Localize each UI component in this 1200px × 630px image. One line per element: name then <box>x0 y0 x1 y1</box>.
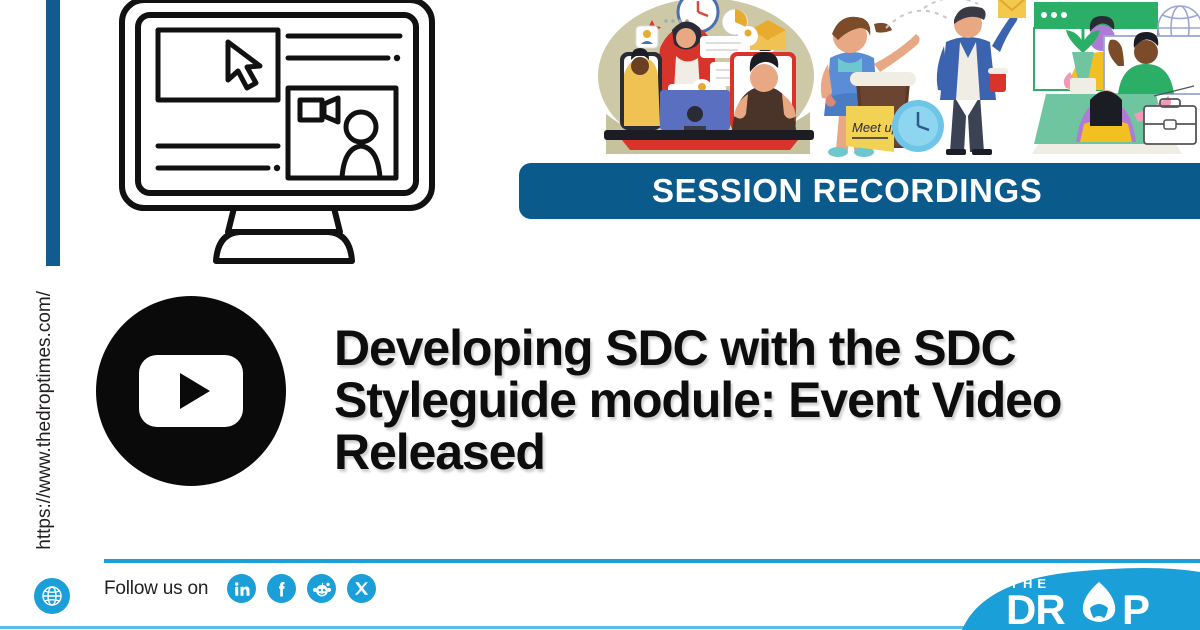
vertical-url-container: https://www.thedroptimes.com/ <box>34 290 62 550</box>
banner-label: SESSION RECORDINGS <box>652 172 1042 210</box>
svg-text:Meet up: Meet up <box>852 120 899 135</box>
left-accent-bar <box>46 0 60 266</box>
website-url[interactable]: https://www.thedroptimes.com/ <box>34 291 56 550</box>
globe-icon[interactable] <box>34 578 70 614</box>
page-title: Developing SDC with the SDC Styleguide m… <box>334 322 1164 478</box>
session-recordings-banner: SESSION RECORDINGS <box>519 163 1200 219</box>
youtube-screen-shape <box>139 355 243 427</box>
footer-divider <box>104 559 1200 563</box>
youtube-play-icon[interactable] <box>96 296 286 486</box>
follow-us-label: Follow us on <box>104 578 208 600</box>
the-drop-times-logo[interactable]: THE DR P <box>962 564 1200 630</box>
play-triangle-icon <box>180 373 210 409</box>
reddit-icon[interactable] <box>307 574 336 603</box>
x-twitter-icon[interactable] <box>347 574 376 603</box>
monitor-screen-recording-icon <box>116 0 446 266</box>
logo-p-text: P <box>1122 586 1150 630</box>
promo-card-canvas: https://www.thedroptimes.com/ <box>0 0 1200 630</box>
logo-dr-text: DR <box>1006 586 1065 630</box>
linkedin-icon[interactable] <box>227 574 256 603</box>
online-meeting-people-illustration: Meet up <box>598 0 1200 166</box>
facebook-icon[interactable] <box>267 574 296 603</box>
follow-us-row: Follow us on <box>104 574 376 603</box>
